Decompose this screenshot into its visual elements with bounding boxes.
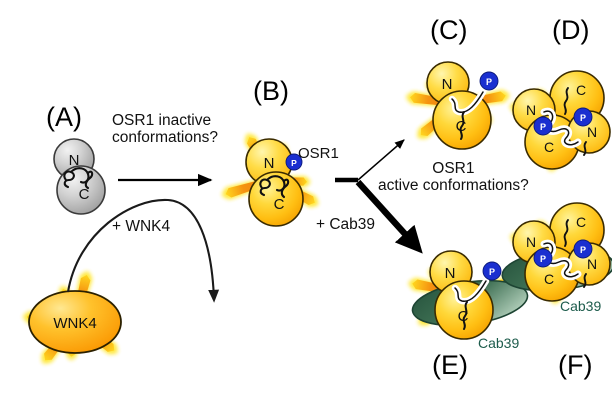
osr1-n-label-f-right: N bbox=[587, 256, 597, 272]
osr1-tail-squiggle-f-lower bbox=[584, 274, 586, 287]
phospho-label-d-left: P bbox=[540, 122, 546, 132]
osr1-c-label-d-upper: C bbox=[576, 82, 586, 98]
osr1-n-label-c: N bbox=[442, 76, 453, 93]
panel-label-c: (C) bbox=[430, 17, 467, 44]
panel-b-osr1: N C P bbox=[246, 139, 303, 226]
osr1-c-label-f-upper: C bbox=[576, 214, 586, 230]
phospho-label-d-right: P bbox=[580, 113, 586, 123]
annotation-inactive-line2: conformations? bbox=[112, 129, 218, 146]
osr1-c-label-d-lower: C bbox=[544, 139, 554, 155]
annotation-inactive-conformations: OSR1 inactive conformations? bbox=[112, 112, 218, 147]
panel-label-a: (A) bbox=[46, 104, 82, 131]
phospho-label-c: P bbox=[486, 77, 492, 87]
osr1-c-label-c: C bbox=[456, 118, 467, 135]
annotation-plus-wnk4: + WNK4 bbox=[112, 218, 170, 235]
osr1-n-label-f-left: N bbox=[526, 234, 536, 250]
figure-vector-layer: N C WNK4 N bbox=[0, 0, 612, 408]
phospho-label-e: P bbox=[489, 267, 495, 277]
osr1-c-label-inactive: C bbox=[79, 186, 90, 203]
phospho-label-f-left: P bbox=[540, 254, 546, 264]
cab39-label-e: Cab39 bbox=[478, 335, 519, 351]
figure-canvas: N C WNK4 N bbox=[0, 0, 612, 408]
annotation-active-conformations: OSR1 active conformations? bbox=[378, 160, 529, 195]
panel-d-osr1-dimer: C N C N P P bbox=[513, 71, 610, 169]
panel-label-b: (B) bbox=[253, 78, 289, 105]
annotation-plus-cab39: + Cab39 bbox=[316, 216, 375, 233]
panel-c-osr1: N C P bbox=[427, 62, 498, 149]
osr1-n-label-b: N bbox=[264, 155, 275, 172]
cab39-label-f: Cab39 bbox=[560, 298, 601, 314]
annotation-active-line1: OSR1 bbox=[432, 160, 474, 177]
arrow-wnk4-curved bbox=[68, 200, 214, 300]
wnk4-label: WNK4 bbox=[53, 315, 96, 332]
annotation-active-line2: active conformations? bbox=[378, 177, 529, 194]
phospho-label-b: P bbox=[291, 158, 297, 168]
osr1-callout-label: OSR1 bbox=[298, 145, 339, 162]
panel-label-e: (E) bbox=[432, 352, 468, 379]
annotation-inactive-line1: OSR1 inactive bbox=[112, 112, 211, 129]
panel-a-inactive-osr1: N C bbox=[54, 139, 105, 214]
osr1-c-label-b: C bbox=[274, 196, 285, 213]
osr1-n-label-d-right: N bbox=[587, 124, 597, 140]
panel-label-d: (D) bbox=[552, 17, 589, 44]
osr1-n-label-inactive: N bbox=[69, 152, 80, 169]
osr1-c-label-f-lower: C bbox=[544, 271, 554, 287]
panel-label-f: (F) bbox=[558, 352, 592, 379]
osr1-tail-squiggle-d-lower bbox=[584, 142, 586, 155]
osr1-n-label-d-left: N bbox=[526, 102, 536, 118]
phospho-label-f-right: P bbox=[580, 245, 586, 255]
wnk4-molecule: WNK4 bbox=[29, 291, 121, 353]
osr1-n-label-e: N bbox=[445, 265, 456, 282]
panel-f-osr1-dimer: C N C N P P bbox=[513, 203, 610, 301]
osr1-c-label-e: C bbox=[458, 308, 469, 325]
